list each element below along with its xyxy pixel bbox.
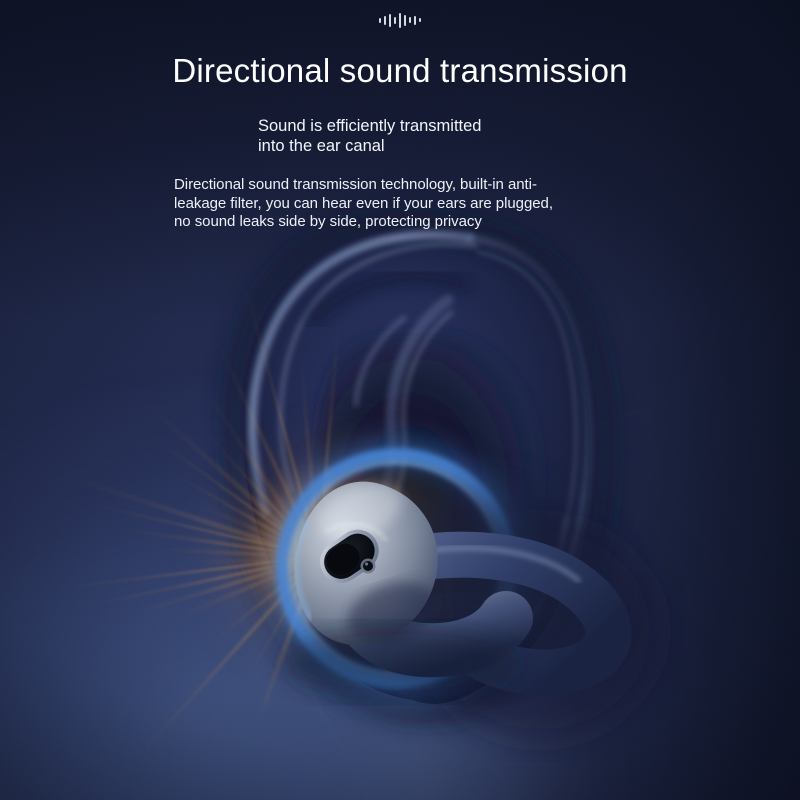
body-line-2: leakage filter, you can hear even if you… [174, 195, 553, 214]
sound-wave-icon [0, 10, 800, 30]
wave-bar-2 [384, 16, 386, 25]
wave-bar-5 [399, 13, 401, 28]
wave-bar-9 [419, 18, 421, 22]
page-title: Directional sound transmission [0, 52, 800, 90]
wave-bar-6 [404, 15, 406, 26]
body-line-3: no sound leaks side by side, protecting … [174, 213, 553, 232]
body-copy-block: Directional sound transmission technolog… [174, 176, 553, 232]
subtitle-block: Sound is efficiently transmitted into th… [258, 116, 481, 156]
product-banner: Directional sound transmission Sound is … [0, 0, 800, 800]
wave-bar-3 [389, 14, 391, 27]
subtitle-line-1: Sound is efficiently transmitted [258, 116, 481, 136]
body-line-1: Directional sound transmission technolog… [174, 176, 553, 195]
subtitle-line-2: into the ear canal [258, 136, 481, 156]
wave-bar-8 [414, 16, 416, 25]
wave-bar-4 [394, 17, 396, 24]
wave-bar-1 [379, 18, 381, 23]
wave-bar-7 [409, 17, 411, 23]
